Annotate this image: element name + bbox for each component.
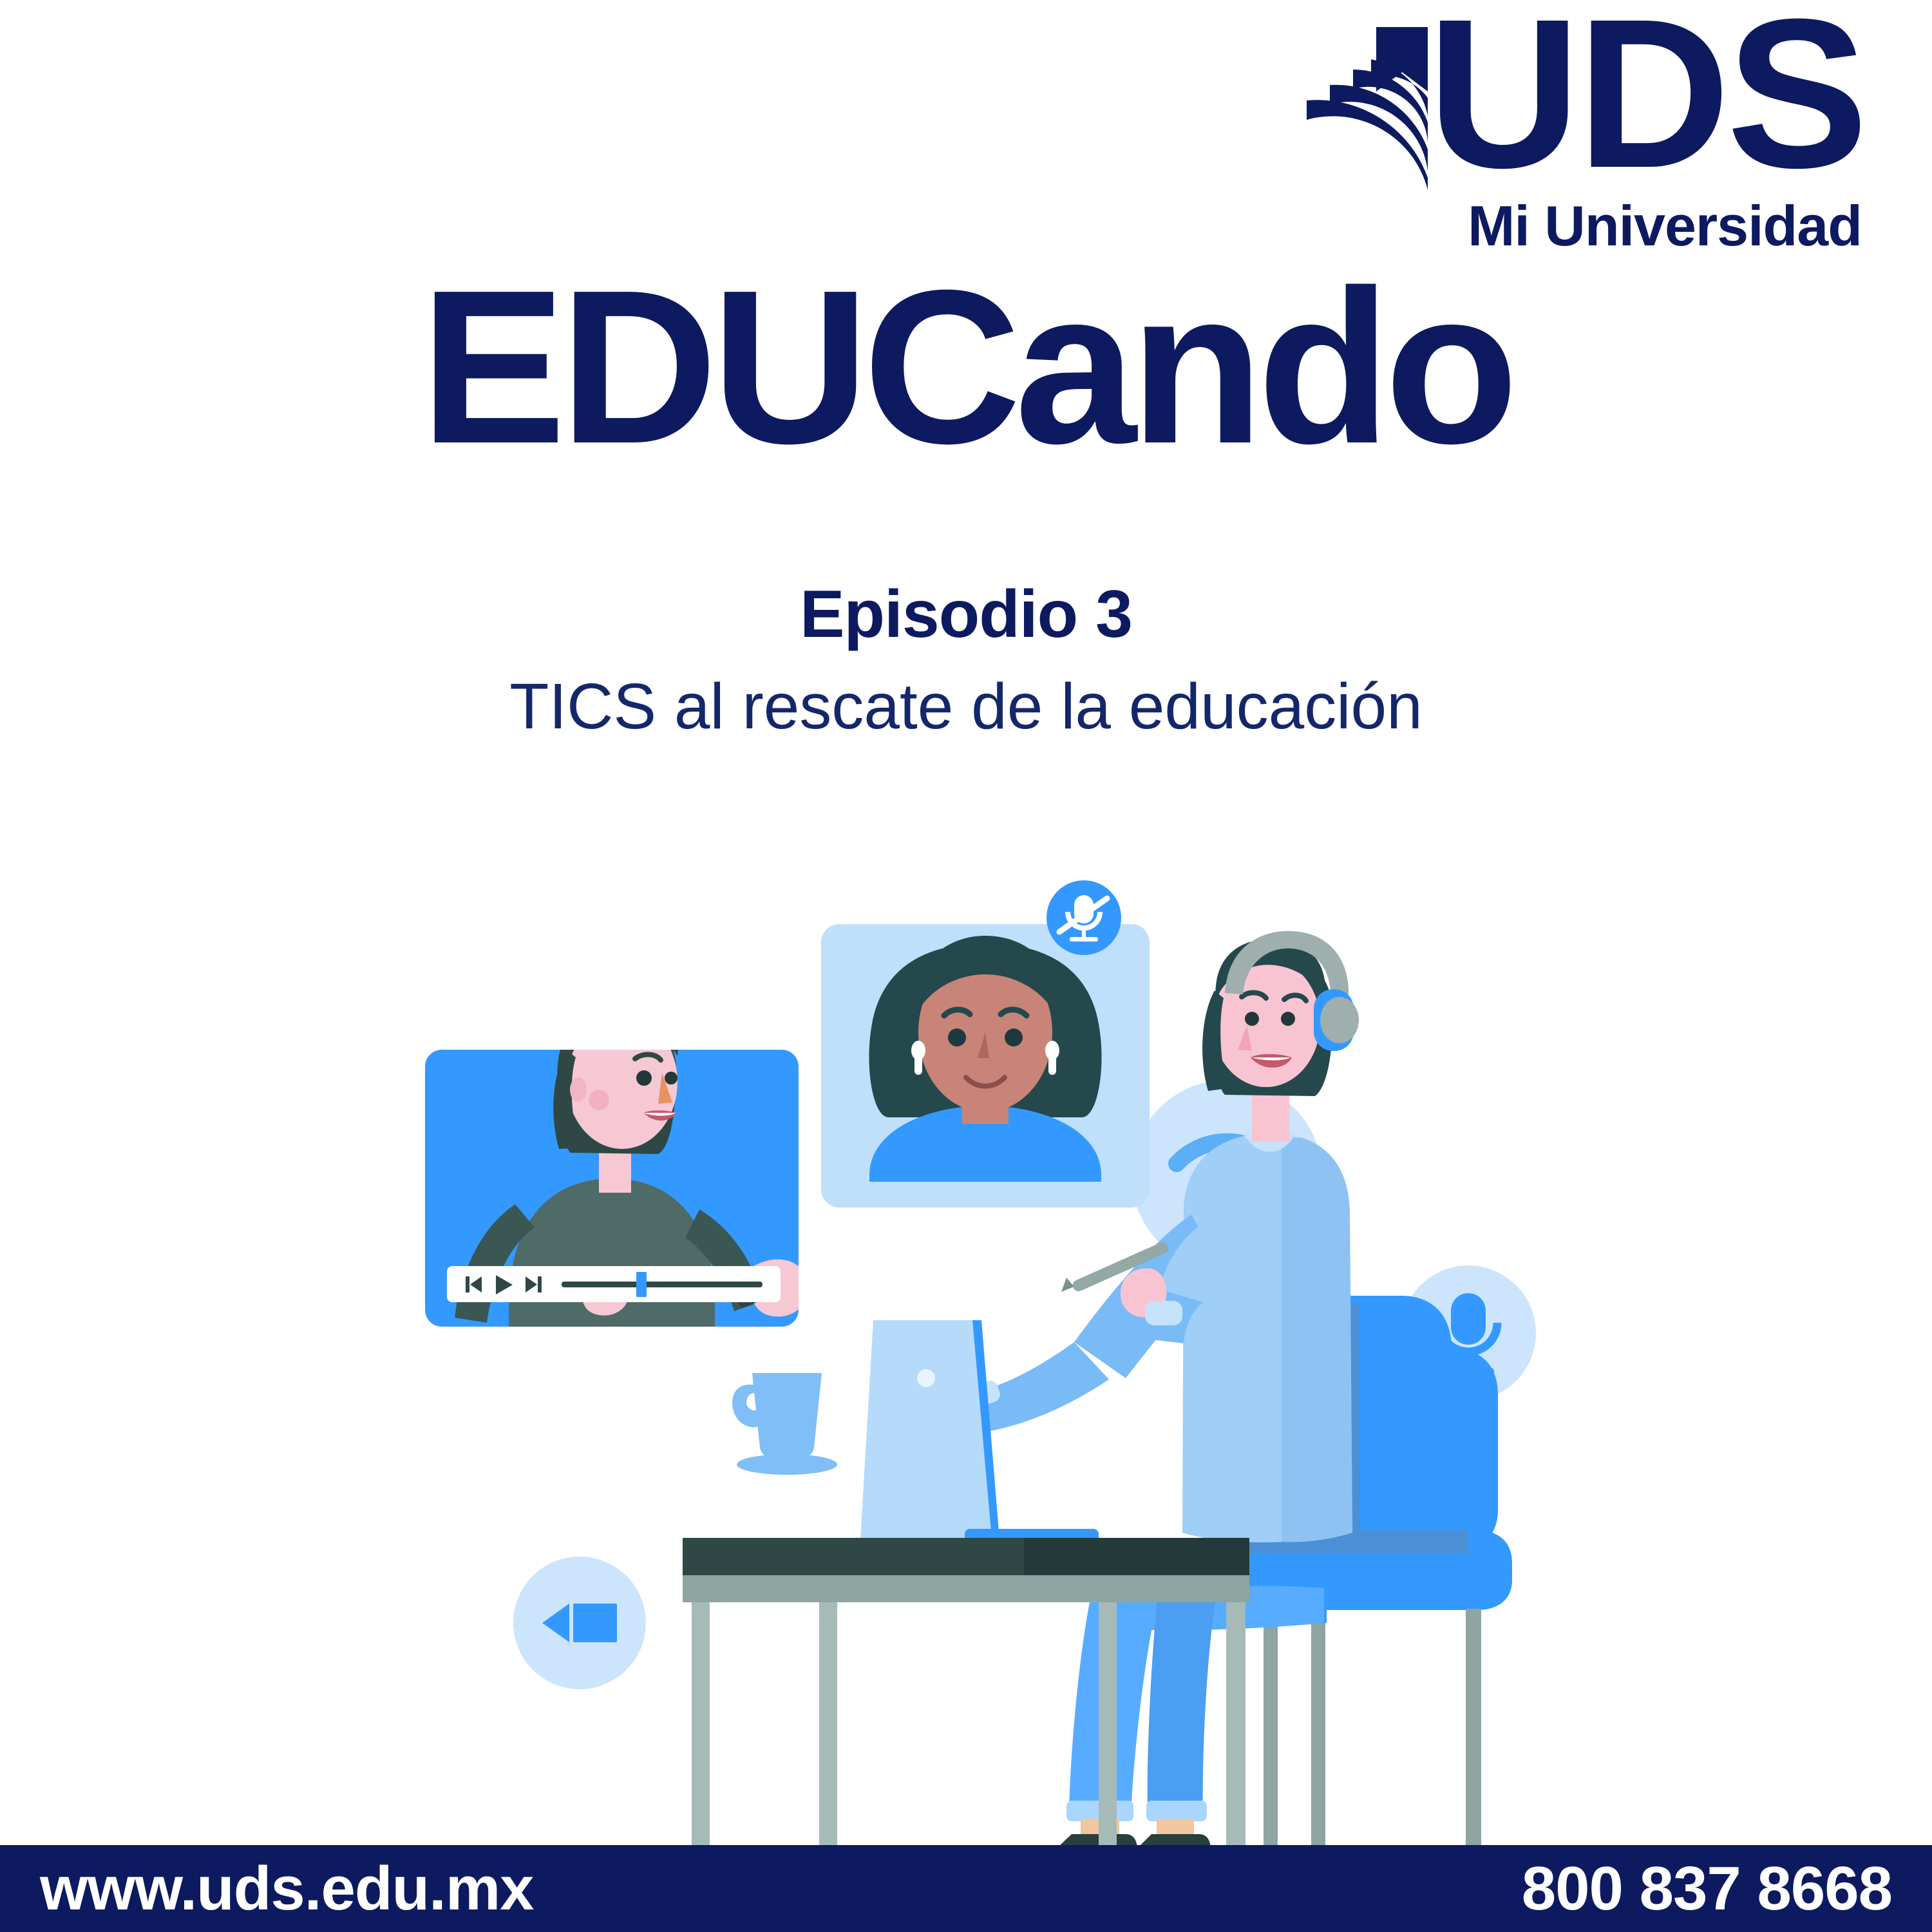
uds-soundwave-arcs-icon (1299, 19, 1431, 190)
video-player-controls (447, 1266, 781, 1302)
episode-subtitle: TICS al rescate de la educación (0, 670, 1932, 744)
page-title: EDUCando (0, 258, 1932, 477)
episode-label: Episodio 3 (0, 576, 1932, 653)
podcast-illustration (0, 857, 1932, 1868)
uds-logo-wordmark: UDS (1427, 6, 1864, 181)
progress-playhead (636, 1272, 647, 1297)
video-call-panel-participant (821, 880, 1150, 1207)
uds-logo-tagline: Mi Universidad (1468, 193, 1862, 259)
footer-website[interactable]: www.uds.edu.mx (40, 1858, 534, 1920)
footer-bar: www.uds.edu.mx 800 837 8668 (0, 1845, 1932, 1932)
microphone-muted-icon (1046, 880, 1121, 955)
video-camera-icon (513, 1557, 646, 1689)
footer-phone[interactable]: 800 837 8668 (1522, 1858, 1892, 1920)
uds-logo: UDS Mi Universidad (1375, 6, 1864, 264)
uds-logo-row: UDS (1375, 6, 1864, 193)
progress-track (562, 1282, 762, 1287)
video-call-panel-speaker (425, 994, 808, 1333)
coffee-cup (732, 1373, 837, 1475)
